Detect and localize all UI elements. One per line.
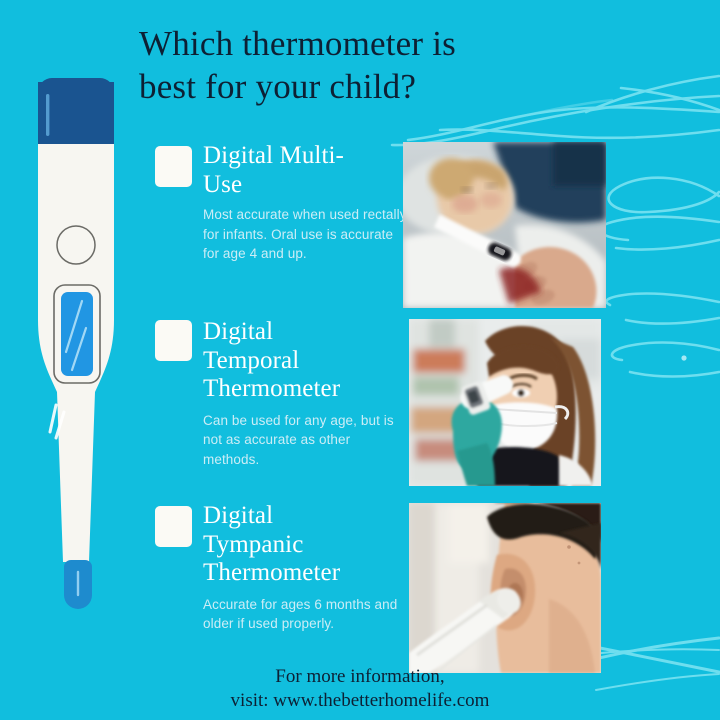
item-heading-line: Thermometer <box>203 559 408 588</box>
bullet-square-icon <box>155 146 192 187</box>
item-heading: Digital Temporal Thermometer <box>203 318 408 404</box>
list-item: Digital Multi- Use Most accurate when us… <box>155 142 408 264</box>
page-title-line-2: best for your child? <box>139 65 559 108</box>
power-button-circle <box>57 226 95 264</box>
item-heading: Digital Multi- Use <box>203 142 408 199</box>
list-item: Digital Temporal Thermometer Can be used… <box>155 318 408 470</box>
footer-line-1: For more information, <box>0 665 720 690</box>
item-heading-line: Thermometer <box>203 375 408 404</box>
photo-digital-temporal <box>409 319 601 486</box>
item-heading-line: Digital <box>203 318 408 347</box>
photo-digital-multi-use <box>403 142 606 308</box>
footer: For more information, visit: www.thebett… <box>0 665 720 714</box>
item-heading-line: Tympanic <box>203 531 408 560</box>
list-item: Digital Tympanic Thermometer Accurate fo… <box>155 502 408 634</box>
digital-thermometer-illustration <box>20 60 150 660</box>
item-description: Most accurate when used rectally for inf… <box>203 205 408 264</box>
item-heading-line: Temporal <box>203 347 408 376</box>
page-title: Which thermometer is best for your child… <box>139 22 559 109</box>
footer-website-url: visit: www.thebetterhomelife.com <box>0 689 720 714</box>
bullet-square-icon <box>155 506 192 547</box>
item-heading-line: Digital <box>203 502 408 531</box>
item-heading: Digital Tympanic Thermometer <box>203 502 408 588</box>
photo-digital-tympanic <box>409 503 601 673</box>
page-title-line-1: Which thermometer is <box>139 22 559 65</box>
item-heading-line: Use <box>203 171 408 200</box>
bullet-square-icon <box>155 320 192 361</box>
item-description: Accurate for ages 6 months and older if … <box>203 595 408 634</box>
item-description: Can be used for any age, but is not as a… <box>203 411 408 470</box>
item-heading-line: Digital Multi- <box>203 142 408 171</box>
